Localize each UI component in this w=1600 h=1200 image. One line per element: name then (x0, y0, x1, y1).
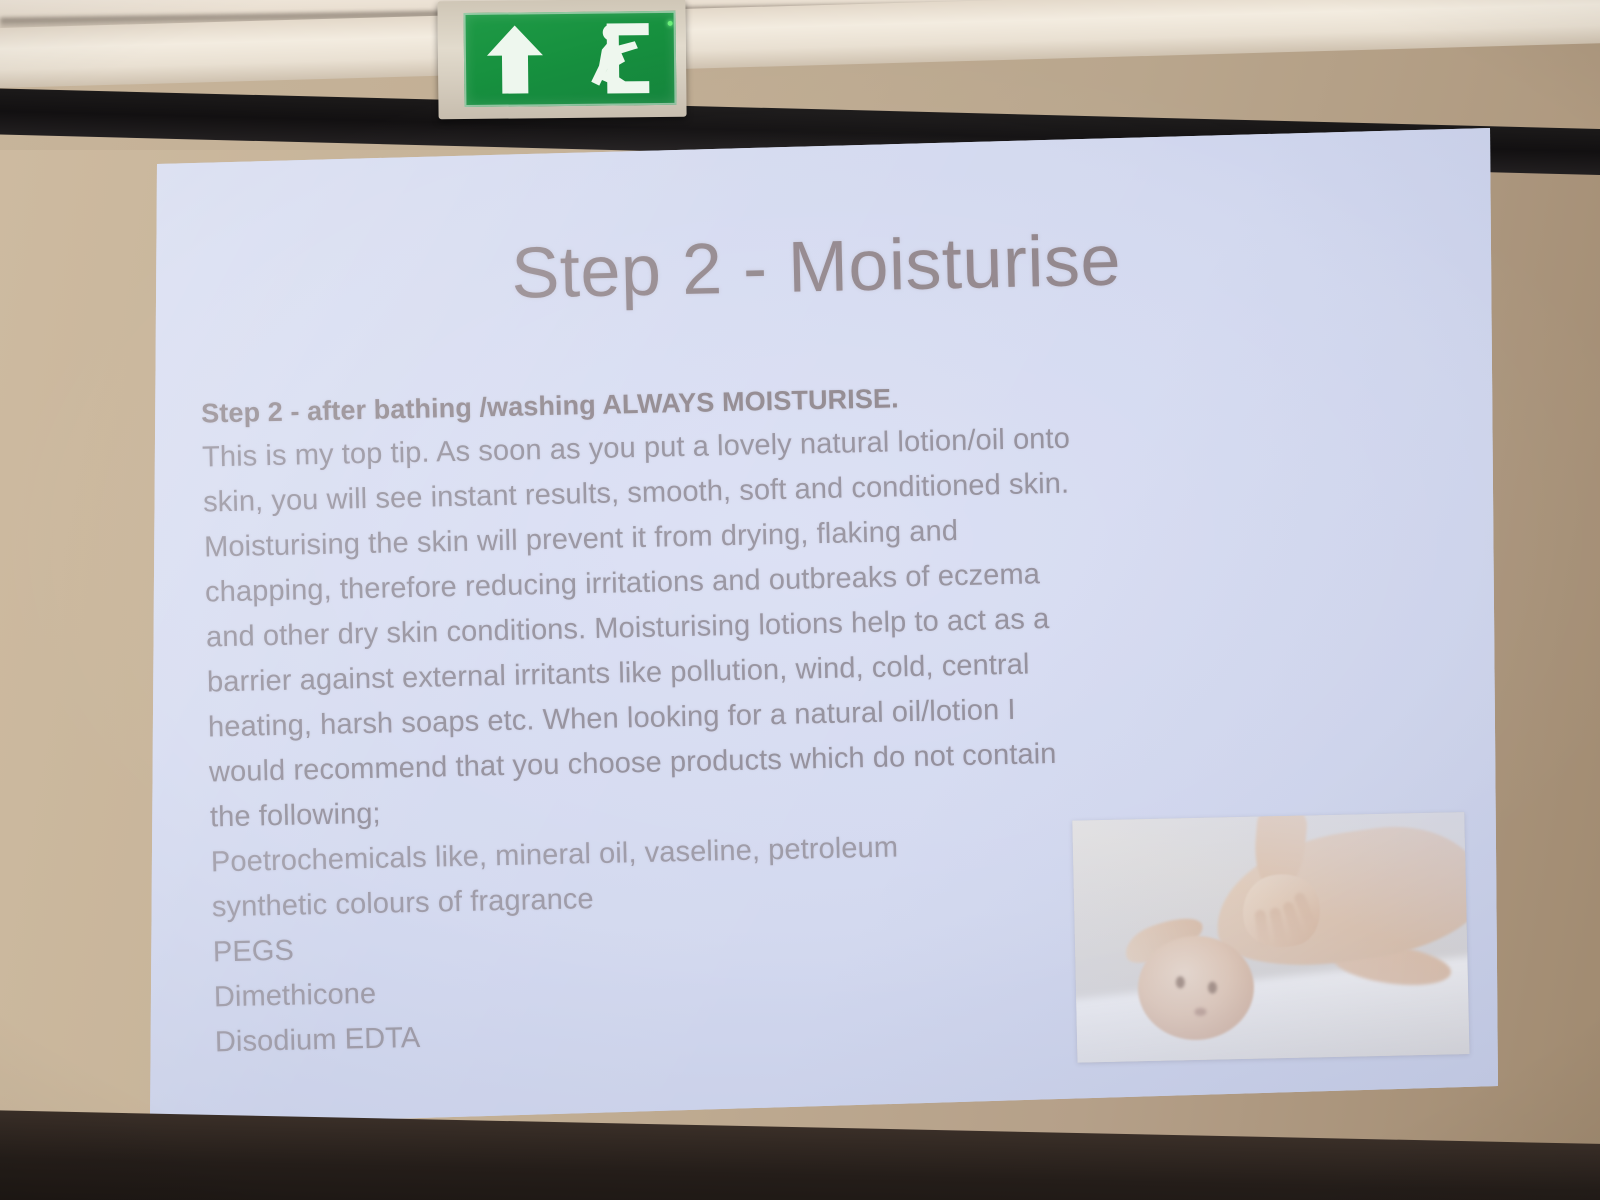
projection-screen: Step 2 - Moisturise Step 2 - after bathi… (150, 128, 1498, 1126)
slide-title: Step 2 - Moisturise (141, 211, 1490, 322)
exit-sign-led-icon (668, 21, 673, 26)
photo-projection-haze (1072, 812, 1469, 1062)
slide-content: Step 2 - Moisturise Step 2 - after bathi… (139, 113, 1508, 1140)
up-arrow-icon (483, 22, 546, 97)
slide-surface: Step 2 - Moisturise Step 2 - after bathi… (150, 128, 1498, 1126)
baby-massage-photo (1072, 812, 1469, 1062)
slide-body: Step 2 - after bathing /washing ALWAYS M… (201, 371, 1175, 1066)
room-photograph: Step 2 - Moisturise Step 2 - after bathi… (0, 0, 1600, 1200)
exit-sign-face (464, 11, 677, 107)
running-person-exit-icon (584, 19, 657, 98)
emergency-exit-sign (437, 0, 686, 119)
